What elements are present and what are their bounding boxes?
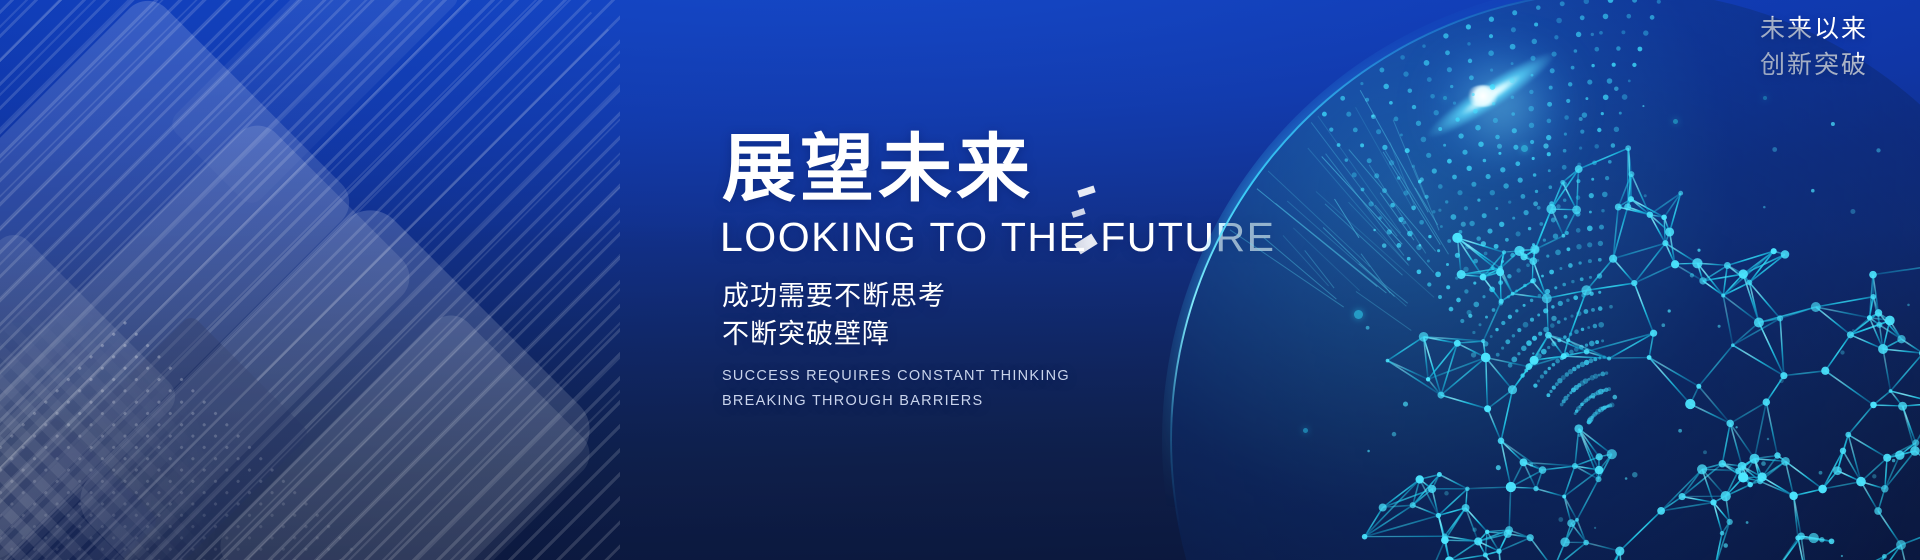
left-geometric-pattern xyxy=(0,0,620,560)
diagonal-stripe-bundle-a xyxy=(0,0,620,560)
glass-slab-1 xyxy=(0,0,360,560)
diagonal-stripe-bundle-b xyxy=(0,0,620,560)
glass-slab-5 xyxy=(167,0,464,208)
promo-banner: 未来以来 创新突破 展望未来 LOOKING TO THE FUTURE 成功需… xyxy=(0,0,1920,560)
subtitle-chinese-line-2: 不断突破壁障 xyxy=(722,315,1482,353)
subtitle-chinese-line-1: 成功需要不断思考 xyxy=(722,277,1482,315)
headline-chinese: 展望未来 xyxy=(722,132,1482,206)
subtitle-english-line-2: BREAKING THROUGH BARRIERS xyxy=(722,389,1482,414)
glass-slab-3 xyxy=(66,196,603,560)
particle-3 xyxy=(1673,119,1678,124)
particle-1 xyxy=(1354,310,1363,319)
particle-5 xyxy=(1763,96,1767,100)
glass-slab-4 xyxy=(0,227,183,560)
glass-slab-6 xyxy=(211,306,600,560)
particle-2 xyxy=(1521,145,1528,152)
checker-dot-field xyxy=(0,213,417,560)
glass-slab-2 xyxy=(0,115,420,560)
particle-4 xyxy=(1443,96,1447,100)
dark-chevron-a xyxy=(0,314,311,560)
rim-flare-core xyxy=(1466,85,1500,107)
corner-slogan-line-2: 创新突破 xyxy=(1760,48,1868,84)
dark-chevron-b xyxy=(0,415,160,560)
subtitle-english-line-1: SUCCESS REQUIRES CONSTANT THINKING xyxy=(722,364,1482,389)
corner-slogan: 未来以来 创新突破 xyxy=(1760,12,1868,83)
pixel-dot-field xyxy=(0,312,358,560)
headline-block: 展望未来 LOOKING TO THE FUTURE 成功需要不断思考 不断突破… xyxy=(722,132,1482,414)
corner-slogan-line-1: 未来以来 xyxy=(1760,12,1868,48)
headline-english: LOOKING TO THE FUTURE xyxy=(720,216,1482,259)
particle-6 xyxy=(1303,428,1308,433)
